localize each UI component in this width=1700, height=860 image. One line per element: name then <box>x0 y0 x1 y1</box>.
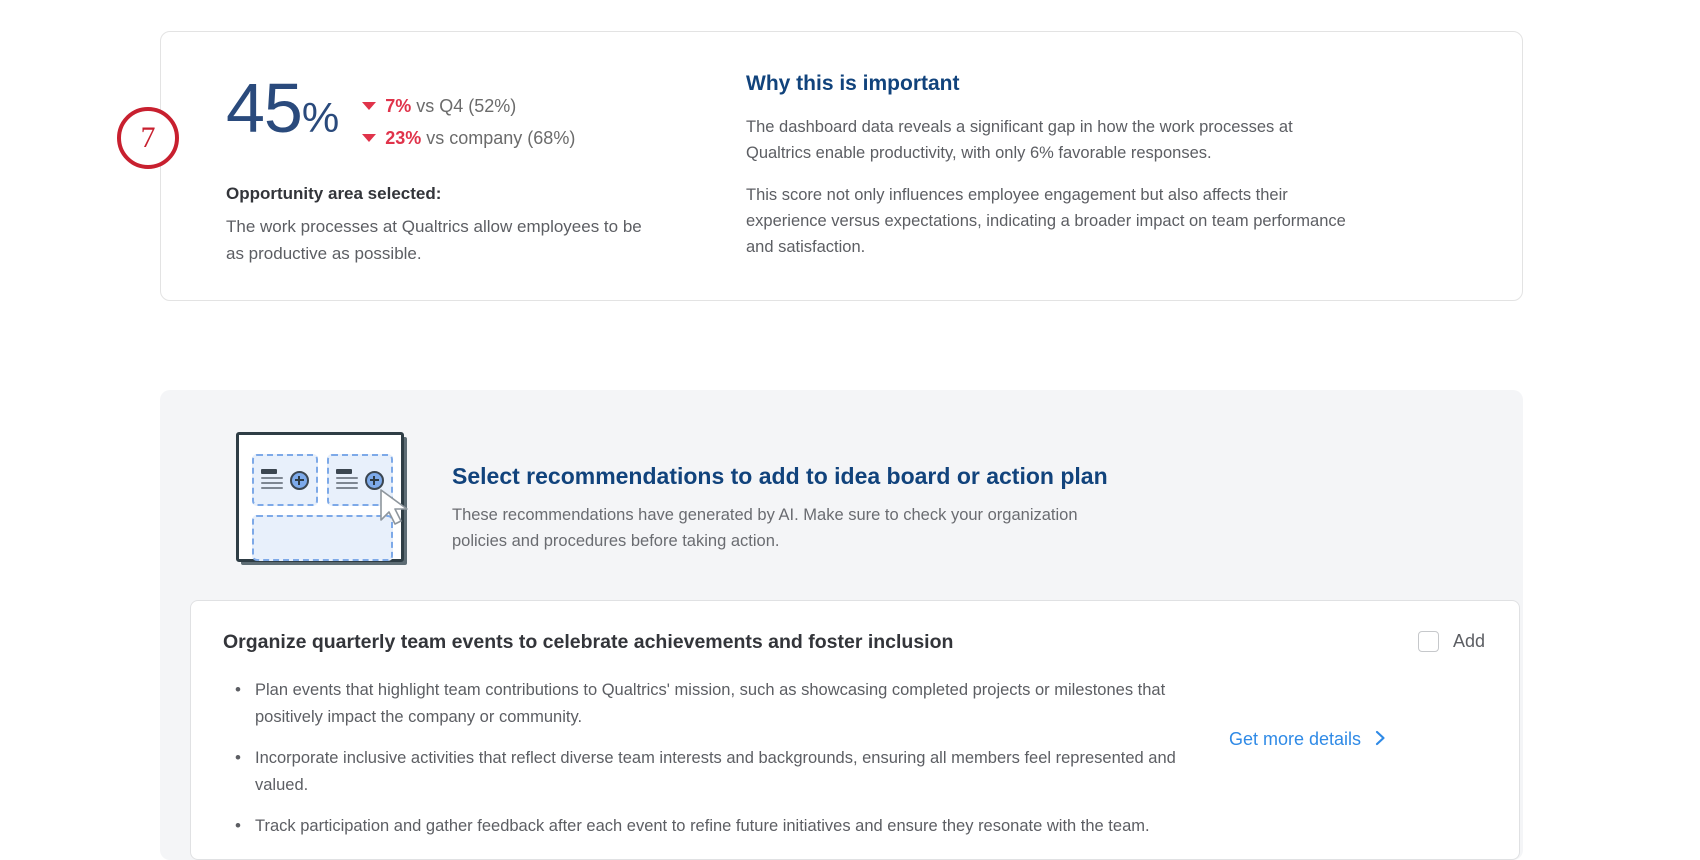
details-column: Get more details <box>1189 677 1519 854</box>
recommendation-card-header: Organize quarterly team events to celebr… <box>191 629 1519 655</box>
delta-text-company: vs company (68%) <box>426 122 575 154</box>
score-value: 45 <box>226 69 302 147</box>
mouse-cursor-icon <box>377 488 417 528</box>
add-label: Add <box>1453 631 1485 652</box>
recommendations-subtitle: These recommendations have generated by … <box>452 502 1092 554</box>
metric-left-column: 45% 7% vs Q4 (52%) 23% vs company (68%) … <box>161 72 706 300</box>
step-number-label: 7 <box>141 121 156 154</box>
drag-recommendation-cards-illustration <box>228 425 406 563</box>
favorability-score: 45% <box>226 72 338 154</box>
get-more-details-link[interactable]: Get more details <box>1229 729 1386 750</box>
add-checkbox[interactable] <box>1418 631 1439 652</box>
list-lines-icon <box>261 469 283 492</box>
opportunity-area-text: The work processes at Qualtrics allow em… <box>226 213 656 267</box>
chevron-right-icon <box>1375 730 1386 749</box>
why-important-column: Why this is important The dashboard data… <box>706 72 1522 300</box>
illustration-drop-zone <box>252 515 393 561</box>
delta-text-quarter: vs Q4 (52%) <box>416 90 516 122</box>
delta-row-company: 23% vs company (68%) <box>362 122 575 154</box>
list-lines-icon <box>336 469 358 492</box>
list-item: Track participation and gather feedback … <box>235 813 1189 840</box>
delta-list: 7% vs Q4 (52%) 23% vs company (68%) <box>362 72 575 154</box>
step-number-badge: 7 <box>117 107 179 169</box>
down-triangle-icon <box>362 134 376 142</box>
plus-circle-icon <box>365 471 384 490</box>
delta-row-quarter: 7% vs Q4 (52%) <box>362 90 575 122</box>
illustration-card-tile-1 <box>252 454 318 506</box>
score-percent-symbol: % <box>302 94 338 141</box>
metric-summary-card: 45% 7% vs Q4 (52%) 23% vs company (68%) … <box>160 31 1523 301</box>
recommendations-header-text: Select recommendations to add to idea bo… <box>406 425 1108 554</box>
delta-value-company: 23% <box>385 122 421 154</box>
why-important-paragraph-2: This score not only influences employee … <box>746 182 1356 260</box>
score-and-deltas-row: 45% 7% vs Q4 (52%) 23% vs company (68%) <box>226 72 706 154</box>
recommendation-card-body: Plan events that highlight team contribu… <box>191 655 1519 854</box>
plus-circle-icon <box>290 471 309 490</box>
delta-value-quarter: 7% <box>385 90 411 122</box>
down-triangle-icon <box>362 102 376 110</box>
add-recommendation-control[interactable]: Add <box>1418 629 1485 652</box>
recommendations-header: Select recommendations to add to idea bo… <box>160 390 1523 563</box>
list-item: Plan events that highlight team contribu… <box>235 677 1189 731</box>
recommendation-title: Organize quarterly team events to celebr… <box>223 629 953 655</box>
list-item: Incorporate inclusive activities that re… <box>235 745 1189 799</box>
why-important-title: Why this is important <box>746 72 1462 96</box>
recommendations-title: Select recommendations to add to idea bo… <box>452 463 1108 490</box>
recommendation-bullet-list: Plan events that highlight team contribu… <box>191 677 1189 854</box>
why-important-paragraph-1: The dashboard data reveals a significant… <box>746 114 1356 166</box>
get-more-details-label: Get more details <box>1229 729 1361 750</box>
recommendation-card[interactable]: Organize quarterly team events to celebr… <box>190 600 1520 860</box>
opportunity-area-label: Opportunity area selected: <box>226 184 706 204</box>
